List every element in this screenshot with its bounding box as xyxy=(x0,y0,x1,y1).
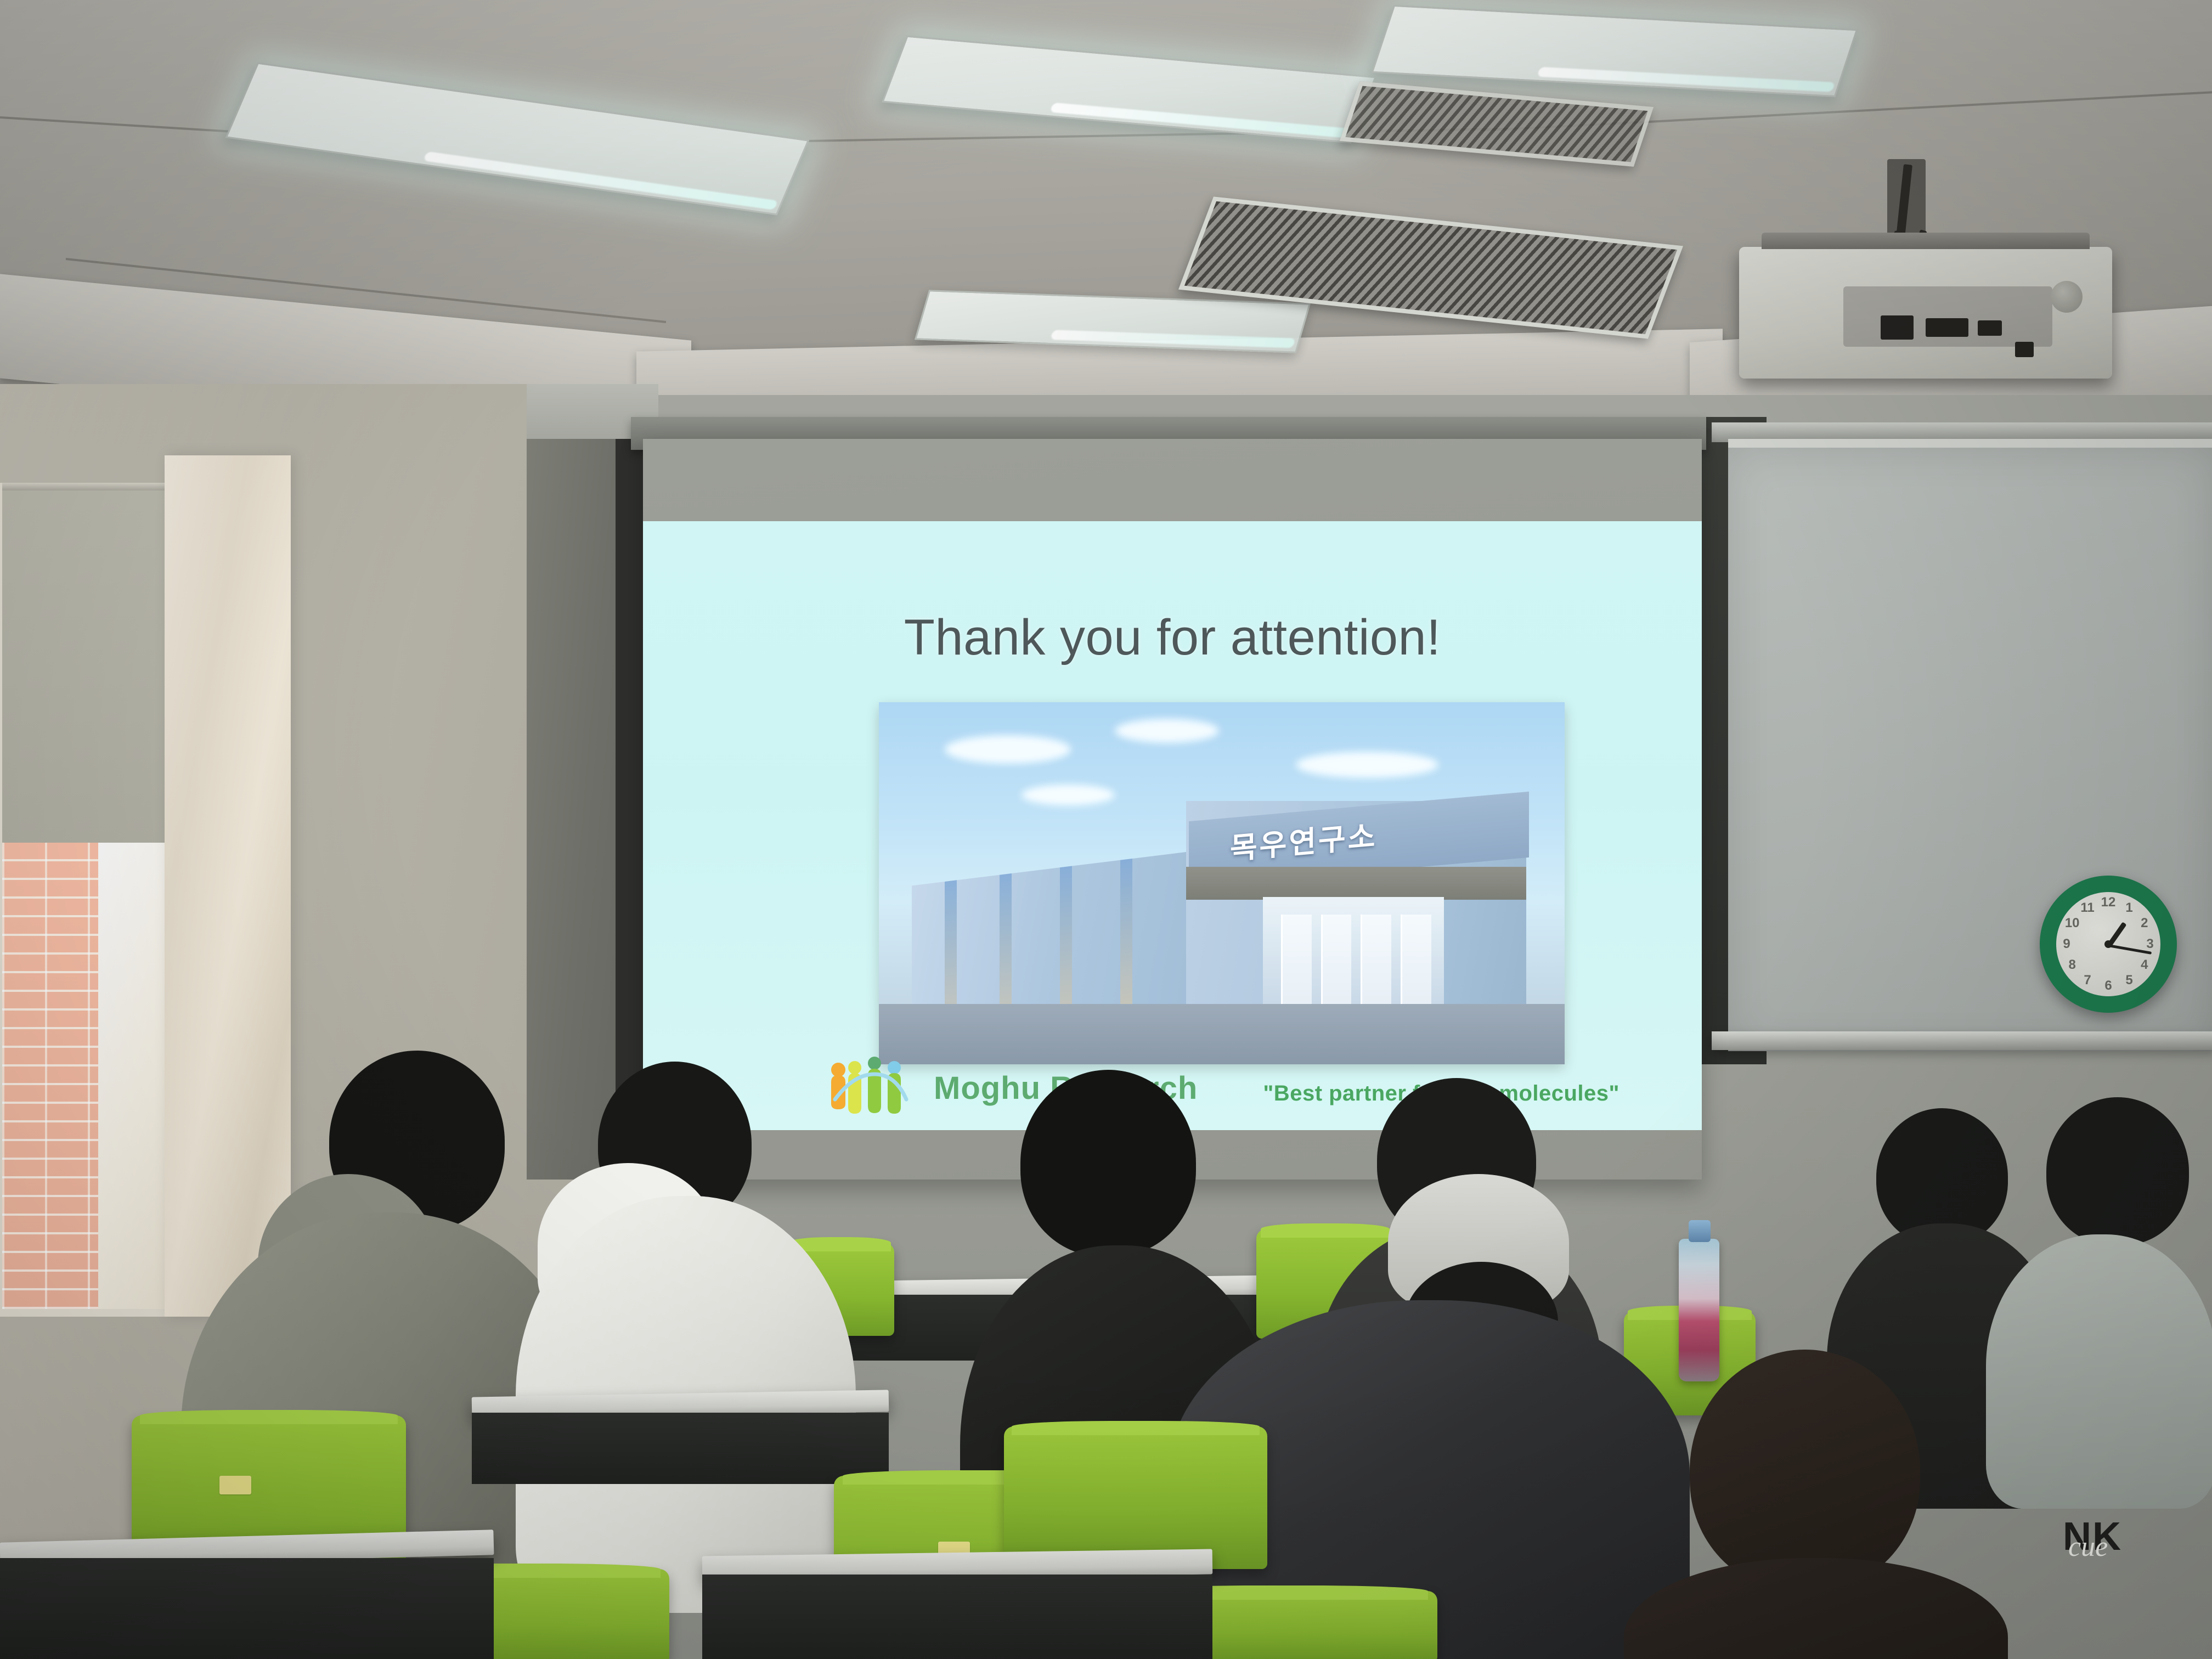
projector xyxy=(1739,247,2112,379)
moghu-logo-mark xyxy=(824,1057,923,1117)
cloud xyxy=(1296,752,1438,778)
slide: Thank you for attention! 목우연구소 xyxy=(643,521,1702,1130)
clock-number: 3 xyxy=(2142,936,2158,952)
projector-port-audio xyxy=(1978,320,2002,336)
fluorescent-tube xyxy=(1051,330,1296,348)
desk-front-row-2 xyxy=(472,1413,889,1484)
curtain xyxy=(165,455,291,1317)
clock-number: 2 xyxy=(2136,916,2153,931)
slide-title: Thank you for attention! xyxy=(643,609,1702,667)
clock-face: 12 1 2 3 4 5 6 7 8 9 10 11 xyxy=(2056,892,2160,996)
projector-lens xyxy=(2051,281,2083,313)
student-body xyxy=(1986,1234,2212,1509)
projector-port-power xyxy=(2015,342,2034,357)
cloud xyxy=(1022,785,1115,805)
clock-number: 1 xyxy=(2121,900,2137,916)
projection-screen: Thank you for attention! 목우연구소 xyxy=(643,439,1702,1180)
window-glare xyxy=(98,843,168,1309)
building-canopy xyxy=(1186,867,1526,900)
clock-number: 11 xyxy=(2079,900,2096,916)
water-bottle[interactable] xyxy=(1679,1239,1719,1381)
clock-number: 7 xyxy=(2079,973,2096,988)
brick-wall-outside xyxy=(2,843,101,1309)
student-head xyxy=(1690,1350,1920,1591)
cloud xyxy=(1115,719,1219,743)
tshirt-script-word: cue xyxy=(2068,1531,2108,1563)
projector-port-hdmi xyxy=(1881,315,1914,340)
clock-number: 6 xyxy=(2100,978,2117,994)
clock-number: 4 xyxy=(2136,957,2153,973)
chair-asset-sticker xyxy=(219,1476,251,1494)
clock-number: 8 xyxy=(2064,957,2080,973)
bottle-cap xyxy=(1689,1220,1711,1242)
column-shadow-edge xyxy=(616,400,644,1180)
chair-7[interactable] xyxy=(1004,1426,1267,1569)
whiteboard-marker-tray[interactable] xyxy=(1712,1031,2212,1050)
clock-number: 9 xyxy=(2058,936,2075,952)
window-blind[interactable] xyxy=(2,490,168,846)
clock-number: 12 xyxy=(2100,895,2117,910)
slide-photo: 목우연구소 xyxy=(879,702,1565,1064)
clock-hub xyxy=(2104,940,2112,948)
projector-mount-rail xyxy=(1762,233,2090,249)
desk-front-row-1b xyxy=(702,1575,1212,1659)
clock-number: 5 xyxy=(2121,973,2137,988)
wall-clock: 12 1 2 3 4 5 6 7 8 9 10 11 xyxy=(2040,876,2177,1013)
projector-port-vga xyxy=(1926,318,1968,337)
desk-front-row-1 xyxy=(0,1558,494,1659)
cloud xyxy=(945,735,1071,764)
lecture-hall-photo: 12 1 2 3 4 5 6 7 8 9 10 11 Thank you for… xyxy=(0,0,2212,1659)
window xyxy=(0,483,176,1317)
clock-number: 10 xyxy=(2064,916,2080,931)
student-head xyxy=(1020,1070,1196,1256)
student-head xyxy=(2046,1097,2189,1245)
projector-io-panel xyxy=(1843,286,2052,347)
